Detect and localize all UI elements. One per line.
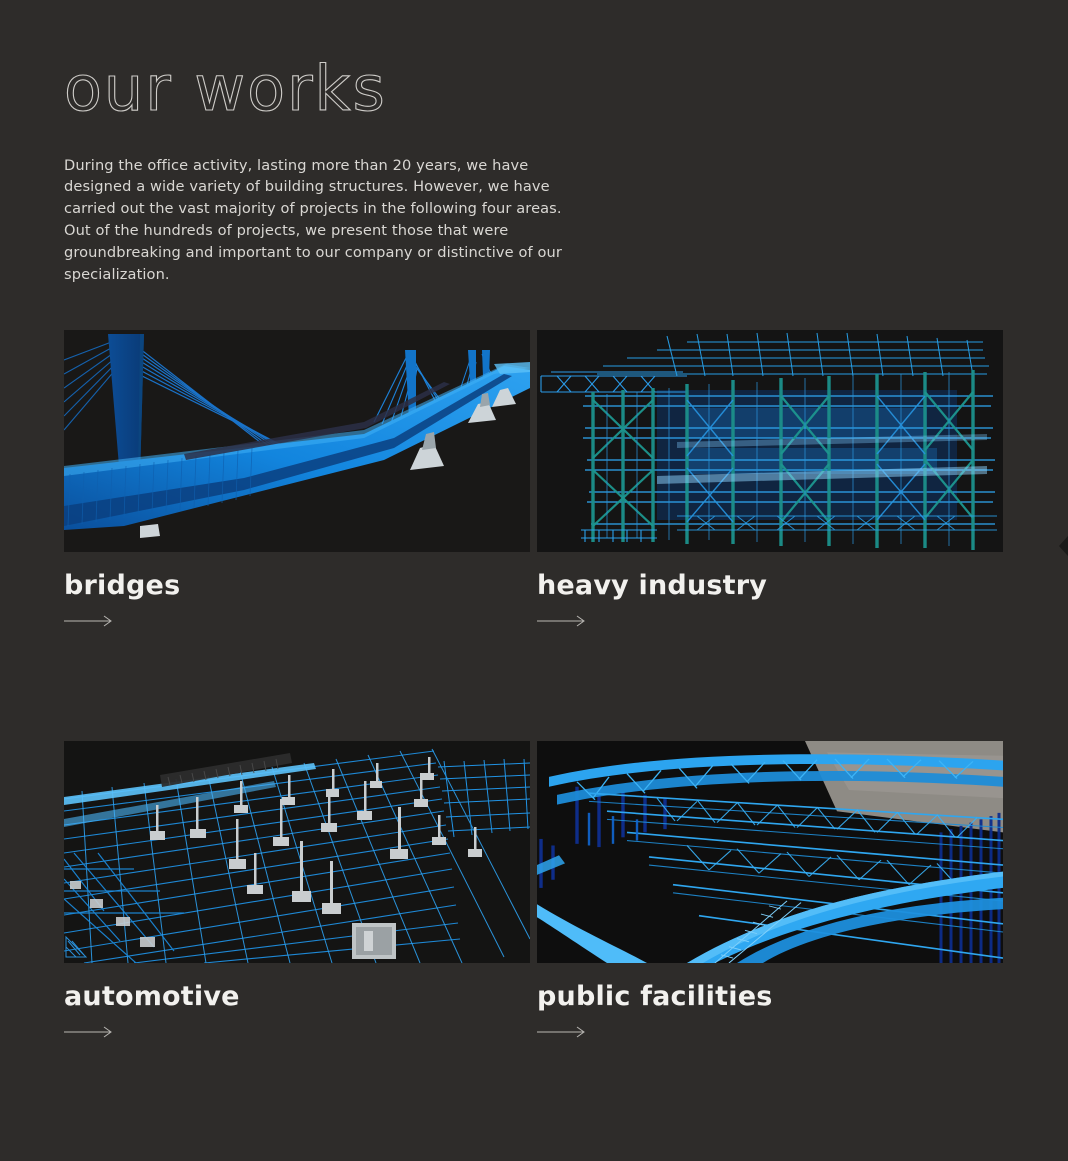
page-title: our works	[64, 48, 764, 122]
work-card-heavy-industry[interactable]: heavy industry	[537, 330, 1003, 628]
arrow-right-icon[interactable]	[64, 1025, 116, 1039]
arrow-clipped-icon	[1058, 534, 1068, 558]
work-title-public-facilities: public facilities	[537, 983, 1003, 1011]
page-root: our works During the office activity, la…	[0, 0, 1068, 1161]
work-card-public-facilities[interactable]: public facilities	[537, 741, 1003, 1039]
intro-paragraph: During the office activity, lasting more…	[64, 155, 576, 286]
work-title-heavy-industry: heavy industry	[537, 572, 1003, 600]
arrow-right-icon[interactable]	[537, 1025, 589, 1039]
work-card-automotive[interactable]: automotive	[64, 741, 530, 1039]
page-title-text: our works	[64, 52, 387, 125]
arrow-right-icon[interactable]	[64, 614, 116, 628]
work-card-bridges[interactable]: bridges	[64, 330, 530, 628]
work-thumbnail-automotive[interactable]	[64, 741, 530, 963]
arrow-right-icon[interactable]	[537, 614, 589, 628]
work-thumbnail-heavy-industry[interactable]	[537, 330, 1003, 552]
work-title-bridges: bridges	[64, 572, 530, 600]
work-title-automotive: automotive	[64, 983, 530, 1011]
work-thumbnail-public-facilities[interactable]	[537, 741, 1003, 963]
work-thumbnail-bridges[interactable]	[64, 330, 530, 552]
